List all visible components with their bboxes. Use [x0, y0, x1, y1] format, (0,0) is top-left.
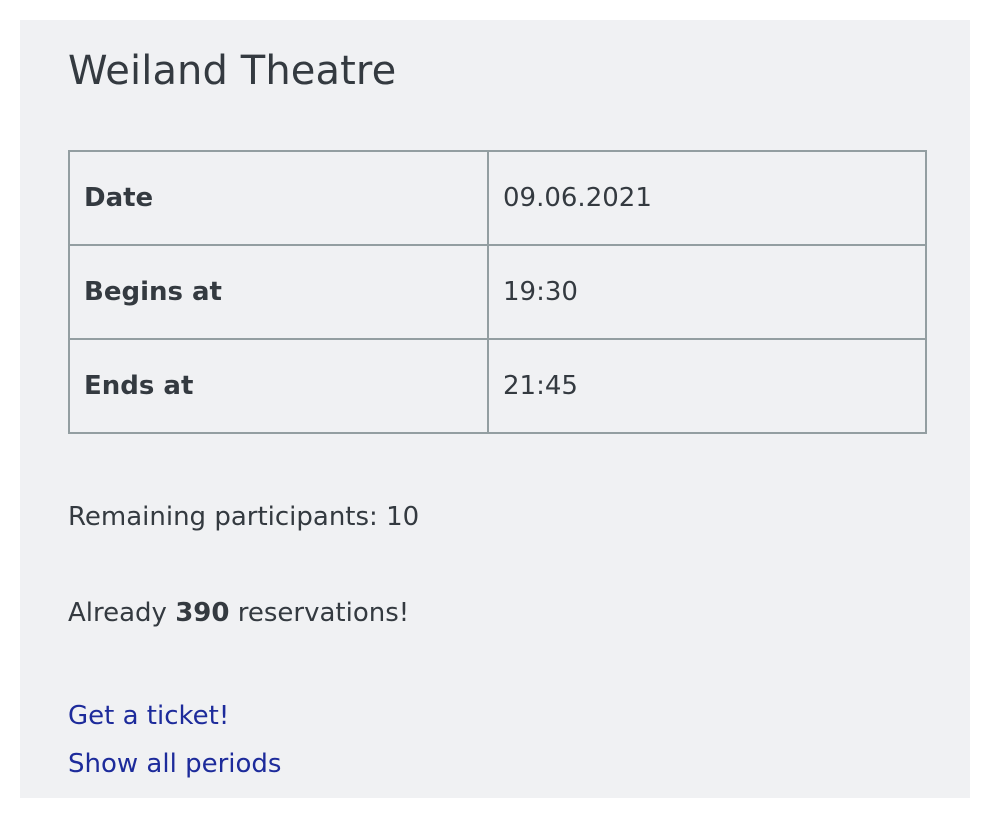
event-details-table: Date 09.06.2021 Begins at 19:30 Ends at … [68, 150, 927, 434]
row-value-date: 09.06.2021 [488, 151, 926, 245]
event-card-panel: Weiland Theatre Date 09.06.2021 Begins a… [20, 20, 970, 798]
row-value-begins-at: 19:30 [488, 245, 926, 339]
row-label-begins-at: Begins at [69, 245, 488, 339]
row-label-date: Date [69, 151, 488, 245]
reservations-prefix: Already [68, 598, 175, 628]
page-title: Weiland Theatre [68, 47, 396, 95]
row-label-ends-at: Ends at [69, 339, 488, 433]
remaining-participants-text: Remaining participants: 10 [68, 502, 419, 533]
page-root: Weiland Theatre Date 09.06.2021 Begins a… [0, 0, 998, 828]
table-row: Date 09.06.2021 [69, 151, 926, 245]
reservations-count-text: Already 390 reservations! [68, 598, 409, 629]
table-row: Begins at 19:30 [69, 245, 926, 339]
get-a-ticket-link[interactable]: Get a ticket! [68, 692, 281, 740]
reservations-suffix: reservations! [230, 598, 410, 628]
row-value-ends-at: 21:45 [488, 339, 926, 433]
show-all-periods-link[interactable]: Show all periods [68, 740, 281, 788]
reservations-count: 390 [175, 598, 229, 628]
table-row: Ends at 21:45 [69, 339, 926, 433]
action-links: Get a ticket! Show all periods [68, 692, 281, 788]
